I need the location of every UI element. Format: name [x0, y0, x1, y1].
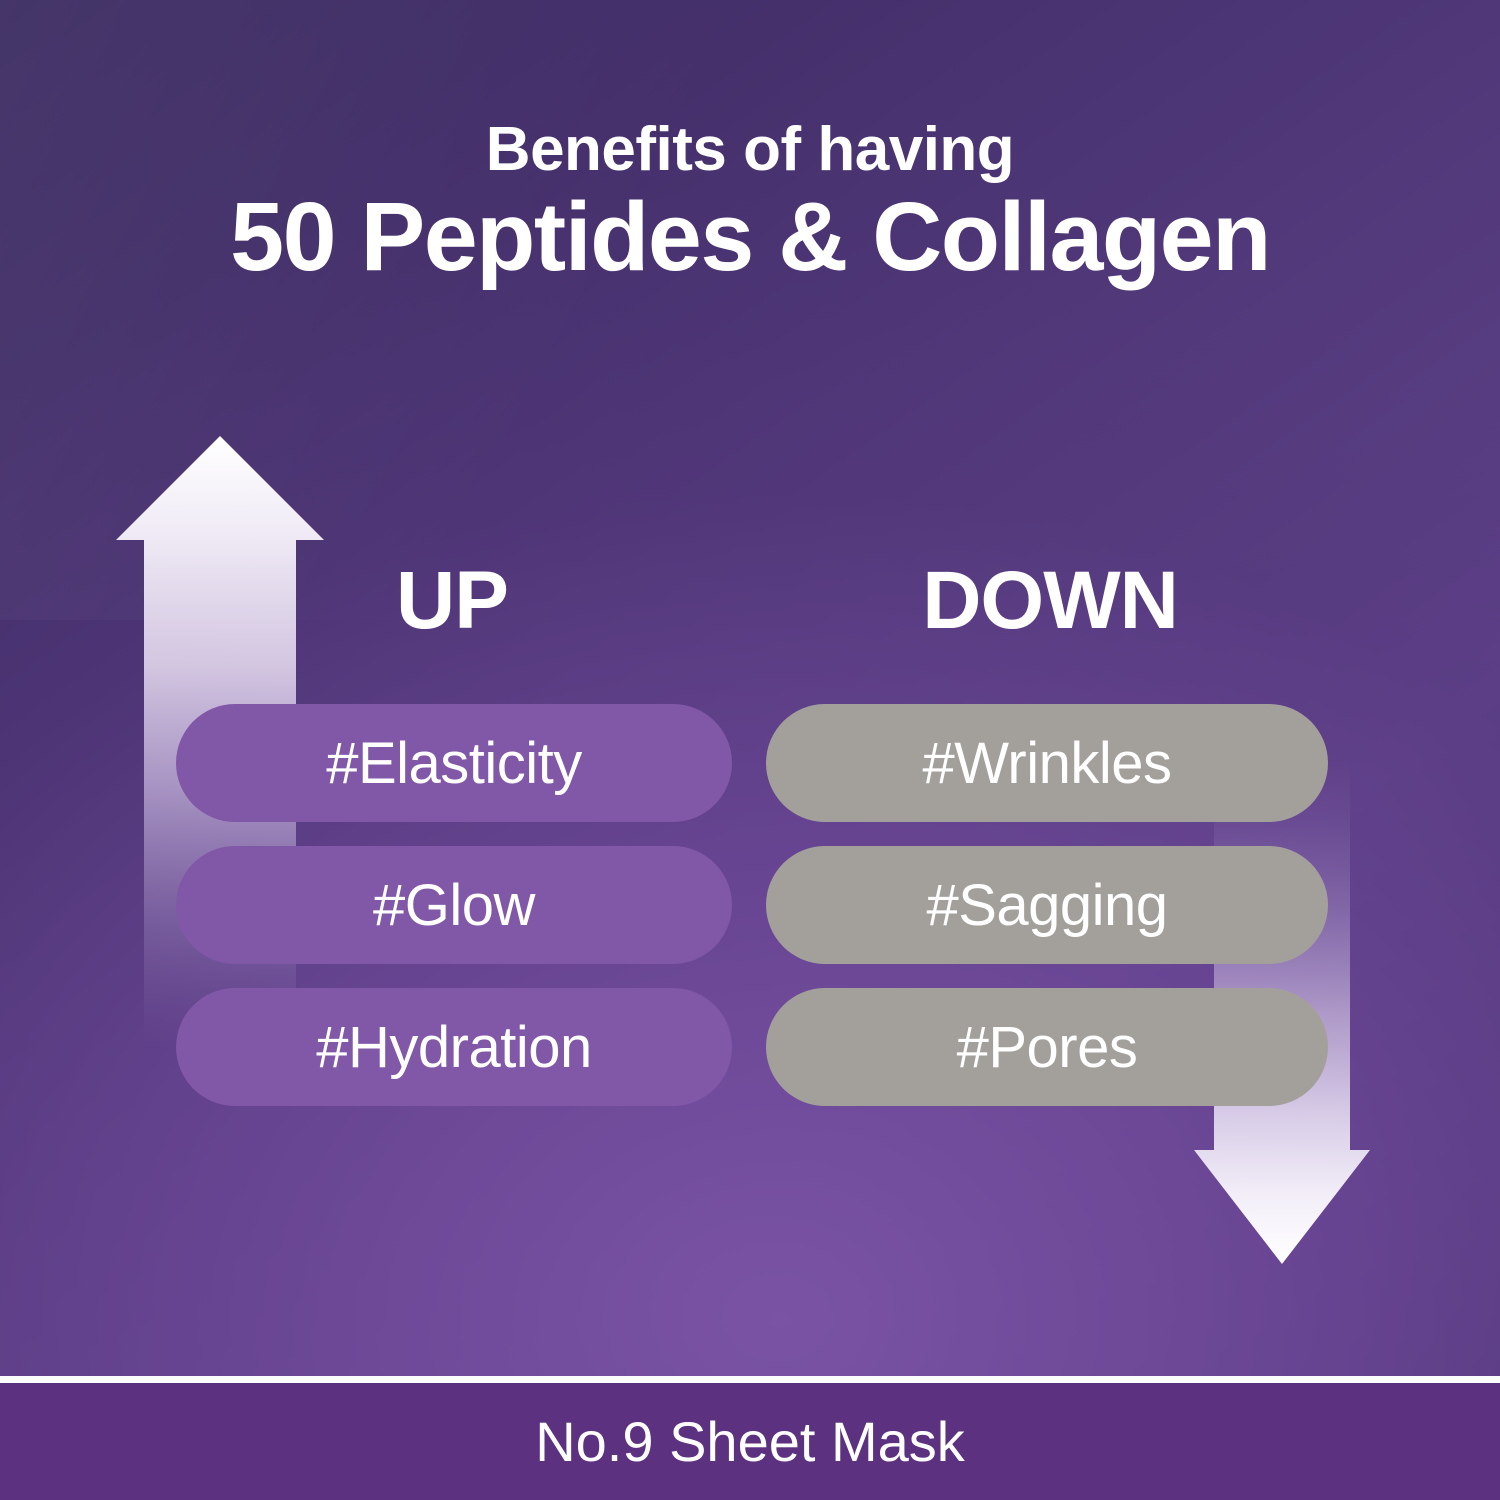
product-benefits-poster: Benefits of having 50 Peptides & Collage… [0, 0, 1500, 1500]
poster-title-block: Benefits of having 50 Peptides & Collage… [0, 118, 1500, 294]
background-sheen [0, 0, 860, 620]
column-heading-down: DOWN [860, 560, 1240, 642]
benefit-pill-elasticity[interactable]: #Elasticity [176, 704, 732, 822]
column-heading-up: UP [292, 560, 612, 642]
concern-pill-wrinkles[interactable]: #Wrinkles [766, 704, 1328, 822]
benefit-pill-hydration[interactable]: #Hydration [176, 988, 732, 1106]
footer-divider [0, 1376, 1500, 1383]
benefit-pill-glow[interactable]: #Glow [176, 846, 732, 964]
concern-pill-sagging[interactable]: #Sagging [766, 846, 1328, 964]
title-line-1: Benefits of having [0, 118, 1500, 181]
product-name-label: No.9 Sheet Mask [535, 1409, 965, 1474]
footer-band: No.9 Sheet Mask [0, 1383, 1500, 1500]
concern-pill-pores[interactable]: #Pores [766, 988, 1328, 1106]
title-line-2: 50 Peptides & Collagen [0, 181, 1500, 294]
